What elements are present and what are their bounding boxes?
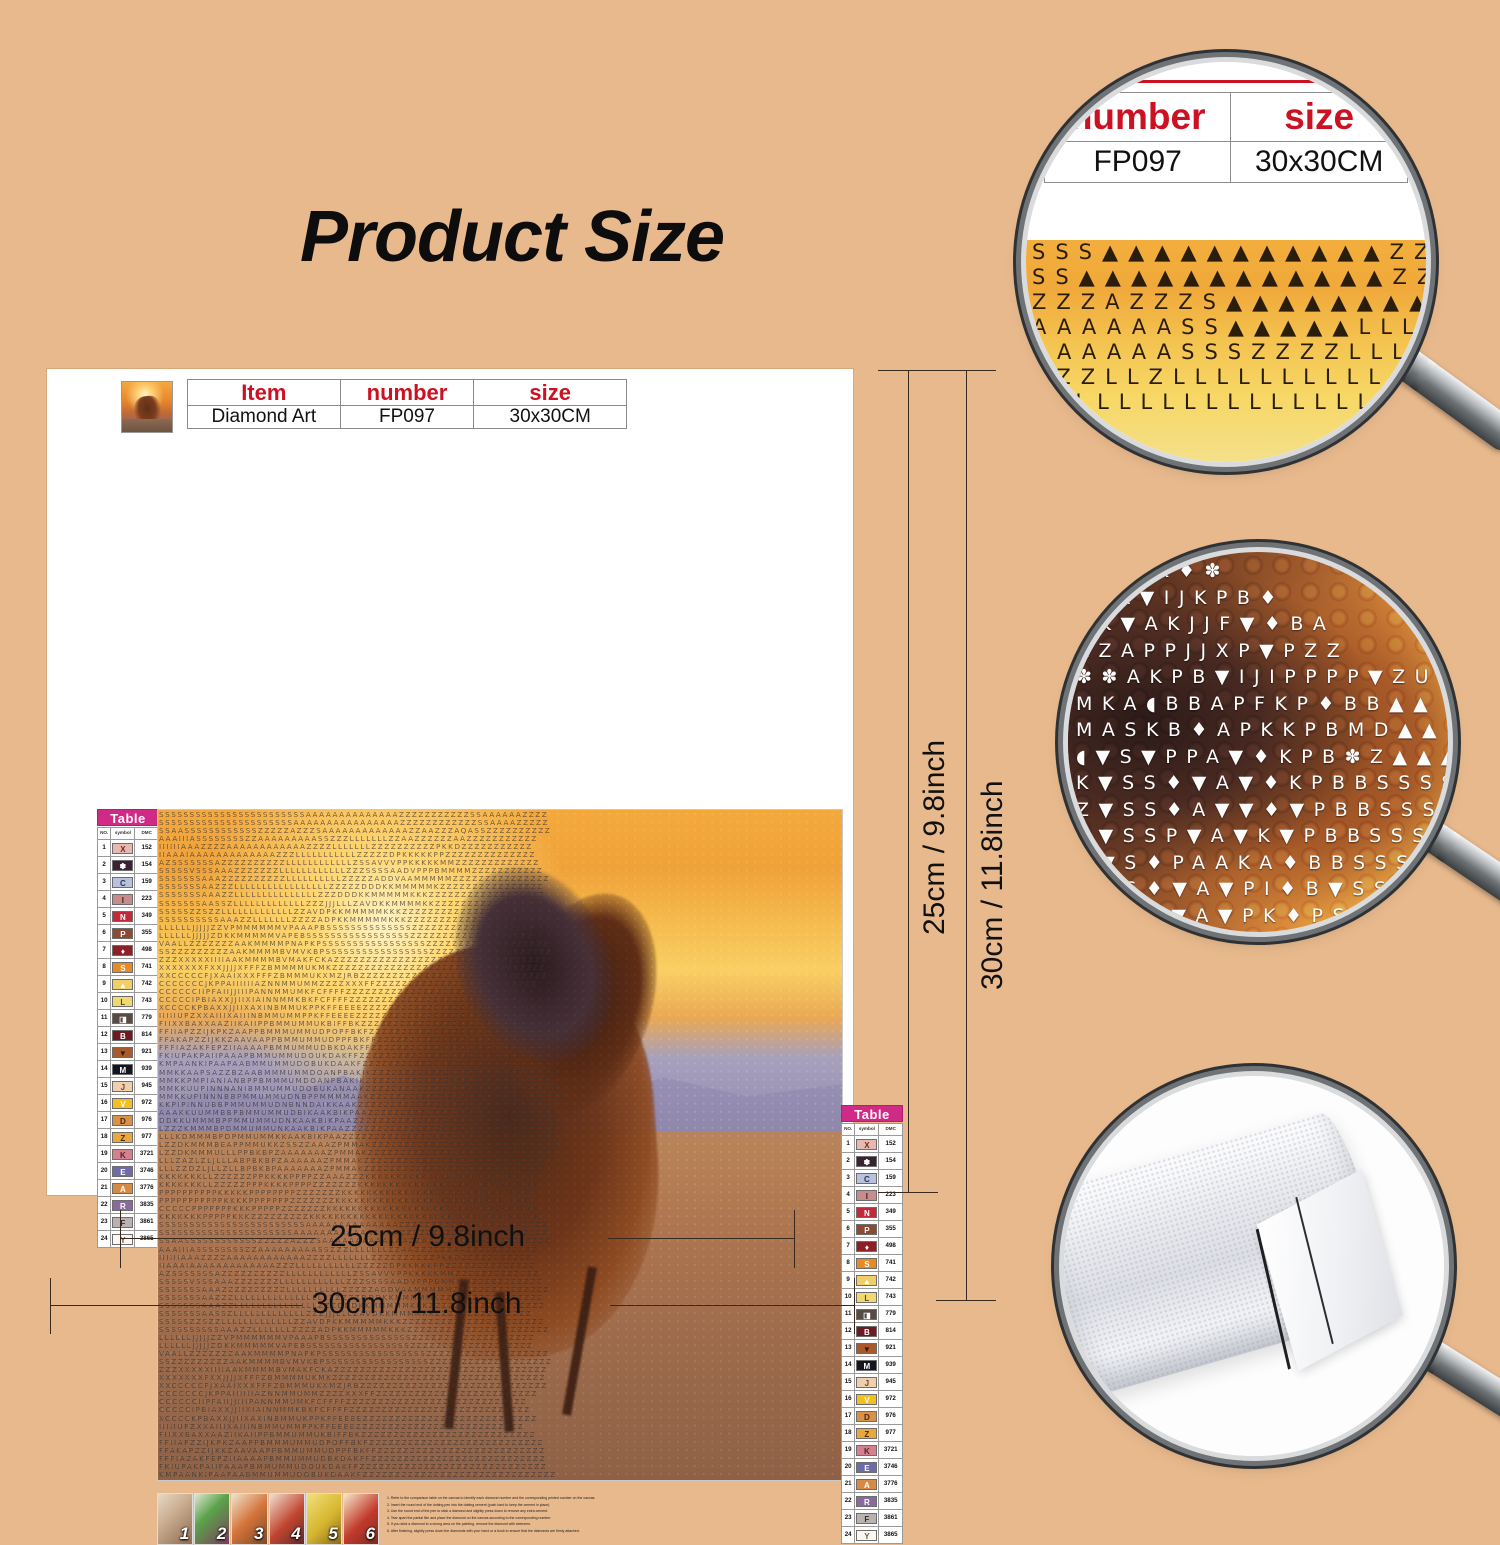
legend-row: 2✽154 (98, 857, 159, 874)
dim-tick (936, 1300, 996, 1301)
magnifier-bead-texture (1068, 552, 1448, 932)
legend-col-symbol: symbol (111, 828, 135, 840)
legend-no: 24 (842, 1527, 855, 1544)
thumbnail-ground (122, 419, 172, 432)
legend-row: 8S741 (98, 959, 159, 976)
step-6-thumbnail: 6 (343, 1493, 379, 1545)
legend-dmc: 939 (879, 1357, 903, 1374)
legend-symbol: P (855, 1221, 879, 1238)
legend-no: 10 (98, 993, 111, 1010)
legend-no: 16 (842, 1391, 855, 1408)
sheet-header: Item number size Diamond Art FP097 30x30… (59, 377, 843, 433)
legend-dmc: 742 (879, 1272, 903, 1289)
legend-symbol: N (111, 908, 135, 925)
legend-no: 12 (842, 1323, 855, 1340)
info-table-header-row: Item number size (188, 380, 627, 406)
legend-dmc: 3835 (879, 1493, 903, 1510)
legend-symbol: A (855, 1476, 879, 1493)
legend-dmc: 355 (135, 925, 159, 942)
legend-dmc: 3721 (879, 1442, 903, 1459)
legend-dmc: 3746 (135, 1163, 159, 1180)
legend-col-dmc: DMC (879, 1124, 903, 1136)
legend-dmc: 498 (879, 1238, 903, 1255)
legend-no: 6 (842, 1221, 855, 1238)
legend-dmc: 152 (135, 840, 159, 857)
legend-dmc: 355 (879, 1221, 903, 1238)
legend-symbol: K (855, 1442, 879, 1459)
legend-row: 4I223 (842, 1187, 903, 1204)
legend-symbol: X (111, 840, 135, 857)
legend-row: 13▼921 (842, 1340, 903, 1357)
legend-row: 14M939 (842, 1357, 903, 1374)
legend-row: 10L743 (98, 993, 159, 1010)
legend-dmc: 972 (879, 1391, 903, 1408)
legend-symbol: Y (111, 1231, 135, 1248)
legend-no: 10 (842, 1289, 855, 1306)
step-3-thumbnail: 3 (231, 1493, 267, 1545)
instruction-line: 1. Refer to the comparison table on the … (387, 1495, 683, 1502)
legend-row: 22R3835 (842, 1493, 903, 1510)
legend-row: 17D976 (98, 1112, 159, 1129)
legend-symbol: X (855, 1136, 879, 1153)
info-table-value-row: Diamond Art FP097 30x30CM (188, 406, 627, 429)
legend-no: 22 (98, 1197, 111, 1214)
legend-symbol: ▼ (855, 1340, 879, 1357)
instruction-line: 6. After finishing, slightly press down … (387, 1528, 683, 1535)
legend-row: 6P355 (98, 925, 159, 942)
dim-label-vertical-outer: 30cm / 11.8inch (976, 780, 1010, 990)
legend-no: 7 (98, 942, 111, 959)
legend-dmc: 159 (135, 874, 159, 891)
step-5-thumbnail: 5 (306, 1493, 342, 1545)
legend-dmc: 154 (135, 857, 159, 874)
legend-dmc: 743 (879, 1289, 903, 1306)
legend-symbol: P (111, 925, 135, 942)
legend-dmc: 779 (135, 1010, 159, 1027)
legend-no: 6 (98, 925, 111, 942)
dim-line-horizontal-inner (608, 1238, 794, 1239)
legend-no: 8 (98, 959, 111, 976)
legend-dmc: 939 (135, 1061, 159, 1078)
legend-no: 20 (842, 1459, 855, 1476)
info-table: Item number size Diamond Art FP097 30x30… (187, 379, 627, 429)
magnifier-symbol-rows: SSS▲▲▲▲▲▲▲▲▲▲▲ZZZ SS▲▲▲▲▲▲▲▲▲▲▲▲ZZZ ZZZA… (1026, 240, 1426, 462)
legend-dmc: 972 (135, 1095, 159, 1112)
step-number: 5 (328, 1524, 337, 1544)
legend-symbol: ♦ (111, 942, 135, 959)
legend-no: 2 (98, 857, 111, 874)
dim-line-horizontal-outer (50, 1305, 302, 1306)
legend-symbol: C (855, 1170, 879, 1187)
legend-dmc: 3776 (135, 1180, 159, 1197)
legend-symbol: B (111, 1027, 135, 1044)
legend-row: 11◨779 (98, 1010, 159, 1027)
legend-no: 14 (98, 1061, 111, 1078)
legend-row: 9▲742 (98, 976, 159, 993)
legend-no: 4 (842, 1187, 855, 1204)
legend-dmc: 3746 (879, 1459, 903, 1476)
legend-col-no: NO. (98, 828, 111, 840)
instruction-line: 5. If you stick a diamond to a wrong are… (387, 1521, 683, 1528)
mag-header-size: size (1231, 93, 1408, 142)
instruction-line: 2. Insert the round end of the dotting p… (387, 1502, 683, 1509)
legend-no: 12 (98, 1027, 111, 1044)
info-value-item: Diamond Art (188, 406, 341, 429)
info-header-item: Item (188, 380, 341, 406)
legend-row: 3C159 (98, 874, 159, 891)
legend-no: 9 (98, 976, 111, 993)
legend-row: 4I223 (98, 891, 159, 908)
legend-symbol: J (111, 1078, 135, 1095)
legend-row: 15J945 (842, 1374, 903, 1391)
legend-symbol: ▼ (111, 1044, 135, 1061)
diamond-painting-symbol-grid: SSSSSSSSSSSSSSSSSSSSSSSSAAAAAAAAAAAAAAZZ… (157, 809, 843, 1481)
instruction-line: 3. Use the round end of the pen to stick… (387, 1508, 683, 1515)
page-title: Product Size (300, 196, 724, 278)
legend-row: 14M939 (98, 1061, 159, 1078)
legend-row: 20E3746 (842, 1459, 903, 1476)
dim-label-horizontal-outer: 30cm / 11.8inch (312, 1287, 522, 1321)
dim-tick (50, 1278, 51, 1334)
info-value-number: FP097 (340, 406, 474, 429)
magnifier-symbol-grid: SSS▲▲▲▲▲▲▲▲▲▲▲ZZZ SS▲▲▲▲▲▲▲▲▲▲▲▲ZZZ ZZZA… (1026, 240, 1426, 462)
legend-symbol: A (111, 1180, 135, 1197)
step-number: 1 (180, 1524, 189, 1544)
mag-value-size: 30x30CM (1231, 142, 1408, 183)
legend-title: Table (841, 1105, 903, 1122)
legend-symbol: ✽ (111, 857, 135, 874)
legend-no: 1 (842, 1136, 855, 1153)
legend-dmc: 3721 (135, 1146, 159, 1163)
legend-symbol: E (111, 1163, 135, 1180)
dim-line-vertical-outer (966, 370, 967, 1300)
legend-no: 2 (842, 1153, 855, 1170)
legend-row: 7♦498 (842, 1238, 903, 1255)
legend-dmc: 349 (879, 1204, 903, 1221)
legend-no: 22 (842, 1493, 855, 1510)
legend-symbol: R (111, 1197, 135, 1214)
legend-row: 13▼921 (98, 1044, 159, 1061)
legend-row: 23F3861 (842, 1510, 903, 1527)
dim-tick (936, 370, 996, 371)
legend-dmc: 3861 (879, 1510, 903, 1527)
legend-no: 15 (842, 1374, 855, 1391)
legend-no: 3 (98, 874, 111, 891)
legend-no: 23 (98, 1214, 111, 1231)
legend-row: 2✽154 (842, 1153, 903, 1170)
legend-row: 1X152 (98, 840, 159, 857)
step-thumbnails: 123456 (157, 1493, 379, 1545)
legend-symbol: D (855, 1408, 879, 1425)
info-value-size: 30x30CM (474, 406, 627, 429)
legend-symbol: ▲ (855, 1272, 879, 1289)
magnifier-lens: number size FP097 30x30CM SSS▲▲▲▲▲▲▲▲▲▲▲… (1026, 62, 1426, 462)
legend-no: 7 (842, 1238, 855, 1255)
legend-dmc: 159 (879, 1170, 903, 1187)
legend-dmc: 814 (135, 1027, 159, 1044)
legend-row: 24Y3865 (842, 1527, 903, 1544)
legend-col-no: NO. (842, 1124, 855, 1136)
legend-symbol: ✽ (855, 1153, 879, 1170)
horse-painting-thumbnail (121, 381, 173, 433)
legend-dmc: 945 (879, 1374, 903, 1391)
legend-row: 9▲742 (842, 1272, 903, 1289)
legend-no: 19 (98, 1146, 111, 1163)
legend-row: 11◨779 (842, 1306, 903, 1323)
legend-symbol: M (111, 1061, 135, 1078)
legend-dmc: 743 (135, 993, 159, 1010)
legend-row: 18Z977 (98, 1129, 159, 1146)
legend-no: 14 (842, 1357, 855, 1374)
legend-title: Table (97, 809, 159, 826)
legend-row: 20E3746 (98, 1163, 159, 1180)
legend-symbol: Z (855, 1425, 879, 1442)
legend-row: 17D976 (842, 1408, 903, 1425)
legend-symbol: S (111, 959, 135, 976)
legend-symbol: J (855, 1374, 879, 1391)
info-header-number: number (340, 380, 474, 406)
legend-symbol: B (855, 1323, 879, 1340)
legend-no: 17 (98, 1112, 111, 1129)
legend-dmc: 152 (879, 1136, 903, 1153)
legend-no: 5 (842, 1204, 855, 1221)
legend-dmc: 779 (879, 1306, 903, 1323)
legend-no: 11 (98, 1010, 111, 1027)
legend-no: 18 (842, 1425, 855, 1442)
legend-no: 17 (842, 1408, 855, 1425)
step-4-thumbnail: 4 (269, 1493, 305, 1545)
legend-row: 18Z977 (842, 1425, 903, 1442)
dim-line-vertical-inner (908, 370, 909, 1192)
legend-symbol: I (855, 1187, 879, 1204)
legend-header-row: NO.symbolDMC (842, 1124, 903, 1136)
dim-tick (878, 370, 938, 371)
legend-no: 15 (98, 1078, 111, 1095)
legend-dmc: 3865 (879, 1527, 903, 1544)
legend-col-symbol: symbol (855, 1124, 879, 1136)
legend-dmc: 741 (879, 1255, 903, 1272)
legend-dmc: 814 (879, 1323, 903, 1340)
legend-row: 24Y3865 (98, 1231, 159, 1248)
legend-dmc: 921 (879, 1340, 903, 1357)
legend-row: 5N349 (98, 908, 159, 925)
legend-symbol: L (855, 1289, 879, 1306)
legend-symbol: L (111, 993, 135, 1010)
magnifier-lens (1064, 1076, 1444, 1456)
legend-row: 19K3721 (842, 1442, 903, 1459)
legend-dmc: 223 (879, 1187, 903, 1204)
legend-no: 24 (98, 1231, 111, 1248)
step-1-thumbnail: 1 (157, 1493, 193, 1545)
legend-symbol: E (855, 1459, 879, 1476)
legend-dmc: 976 (879, 1408, 903, 1425)
legend-row: 19K3721 (98, 1146, 159, 1163)
legend-table-right: Table NO.symbolDMC1X1522✽1543C1594I2235N… (841, 1105, 903, 1544)
legend-symbol: F (111, 1214, 135, 1231)
dim-tick (854, 1278, 855, 1334)
legend-symbol: Y (855, 1527, 879, 1544)
mosaic-bead-texture (158, 810, 842, 1480)
legend-no: 3 (842, 1170, 855, 1187)
legend-symbol: I (111, 891, 135, 908)
legend-symbol: M (855, 1357, 879, 1374)
magnifier-lens: BPPK♦✽ ◖KA▼IJKPB♦ BK▼AKJJF▼♦BA AZAPPJJXP… (1068, 552, 1448, 932)
info-header-size: size (474, 380, 627, 406)
dim-line-horizontal-inner (120, 1238, 316, 1239)
legend-symbol: Z (111, 1129, 135, 1146)
legend-no: 1 (98, 840, 111, 857)
legend-no: 11 (842, 1306, 855, 1323)
legend-dmc: 742 (135, 976, 159, 993)
legend-symbol: R (855, 1493, 879, 1510)
legend-symbol: V (855, 1391, 879, 1408)
dim-label-horizontal-inner: 25cm / 9.8inch (330, 1220, 525, 1254)
legend-symbol: ▲ (111, 976, 135, 993)
legend-no: 20 (98, 1163, 111, 1180)
dim-tick (794, 1210, 795, 1268)
legend-dmc: 741 (135, 959, 159, 976)
legend-no: 5 (98, 908, 111, 925)
legend-dmc: 945 (135, 1078, 159, 1095)
step-number: 6 (366, 1524, 375, 1544)
legend-dmc: 3861 (135, 1214, 159, 1231)
legend-row: 7♦498 (98, 942, 159, 959)
legend-row: 21A3776 (98, 1180, 159, 1197)
step-2-thumbnail: 2 (194, 1493, 230, 1545)
legend-row: 6P355 (842, 1221, 903, 1238)
legend-row: 12B814 (842, 1323, 903, 1340)
canvas-crease (1295, 1197, 1333, 1345)
legend-no: 8 (842, 1255, 855, 1272)
legend-symbol: F (855, 1510, 879, 1527)
legend-dmc: 223 (135, 891, 159, 908)
step-number: 4 (291, 1524, 300, 1544)
legend-row: 15J945 (98, 1078, 159, 1095)
legend-symbol: ◨ (111, 1010, 135, 1027)
legend-row: 10L743 (842, 1289, 903, 1306)
legend-dmc: 3776 (879, 1476, 903, 1493)
legend-dmc: 3835 (135, 1197, 159, 1214)
legend-row: 16V972 (842, 1391, 903, 1408)
legend-dmc: 154 (879, 1153, 903, 1170)
legend-dmc: 921 (135, 1044, 159, 1061)
legend-dmc: 976 (135, 1112, 159, 1129)
legend-symbol: S (855, 1255, 879, 1272)
dim-line-horizontal-outer (610, 1305, 854, 1306)
legend-row: 5N349 (842, 1204, 903, 1221)
legend-row: 1X152 (842, 1136, 903, 1153)
legend-no: 13 (98, 1044, 111, 1061)
legend-symbol: ♦ (855, 1238, 879, 1255)
legend-col-dmc: DMC (135, 828, 159, 840)
legend-row: 8S741 (842, 1255, 903, 1272)
legend-symbol: C (111, 874, 135, 891)
legend-symbol: D (111, 1112, 135, 1129)
legend-no: 9 (842, 1272, 855, 1289)
canvas-sheet: Item number size Diamond Art FP097 30x30… (46, 368, 854, 1196)
legend-row: 23F3861 (98, 1214, 159, 1231)
legend-no: 23 (842, 1510, 855, 1527)
legend-no: 18 (98, 1129, 111, 1146)
legend-dmc: 3865 (135, 1231, 159, 1248)
legend-no: 4 (98, 891, 111, 908)
legend-rows-right: NO.symbolDMC1X1522✽1543C1594I2235N3496P3… (841, 1123, 903, 1544)
dim-tick (120, 1210, 121, 1268)
step-number: 3 (254, 1524, 263, 1544)
legend-no: 19 (842, 1442, 855, 1459)
legend-table-left: Table NO.symbolDMC1X1522✽1543C1594I2235N… (97, 809, 159, 1248)
legend-row: 16V972 (98, 1095, 159, 1112)
legend-rows-left: NO.symbolDMC1X1522✽1543C1594I2235N3496P3… (97, 827, 159, 1248)
legend-row: 22R3835 (98, 1197, 159, 1214)
legend-row: 21A3776 (842, 1476, 903, 1493)
dim-tick (878, 1192, 938, 1193)
legend-no: 21 (842, 1476, 855, 1493)
legend-dmc: 349 (135, 908, 159, 925)
mag-value-number: FP097 (1045, 142, 1231, 183)
legend-symbol: K (111, 1146, 135, 1163)
legend-dmc: 977 (879, 1425, 903, 1442)
legend-dmc: 977 (135, 1129, 159, 1146)
magnifier-table-topline (1044, 80, 1408, 83)
legend-no: 16 (98, 1095, 111, 1112)
instructions-list: 1. Refer to the comparison table on the … (387, 1495, 683, 1535)
step-number: 2 (217, 1524, 226, 1544)
legend-symbol: N (855, 1204, 879, 1221)
magnifier-info-table: number size FP097 30x30CM (1044, 92, 1408, 183)
dim-label-vertical-inner: 25cm / 9.8inch (918, 740, 952, 935)
legend-header-row: NO.symbolDMC (98, 828, 159, 840)
legend-symbol: ◨ (855, 1306, 879, 1323)
mag-header-number: number (1045, 93, 1231, 142)
legend-no: 13 (842, 1340, 855, 1357)
legend-symbol: V (111, 1095, 135, 1112)
legend-no: 21 (98, 1180, 111, 1197)
legend-dmc: 498 (135, 942, 159, 959)
legend-row: 12B814 (98, 1027, 159, 1044)
legend-row: 3C159 (842, 1170, 903, 1187)
instruction-line: 4. Tear apart the partial film and place… (387, 1515, 683, 1522)
